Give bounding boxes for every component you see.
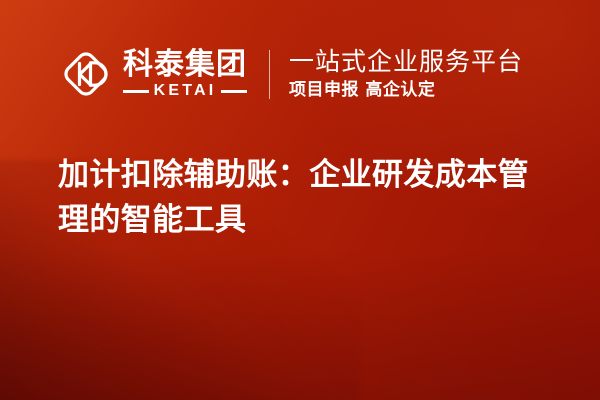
promo-banner: 科泰集团 KETAI 一站式企业服务平台 项目申报 高企认定 加计扣除辅助账：企…: [0, 0, 600, 400]
wordmark-rule-left: [123, 90, 149, 93]
header-divider: [269, 50, 270, 99]
tagline-primary: 一站式企业服务平台: [289, 47, 523, 77]
brand-name-cn: 科泰集团: [123, 49, 247, 81]
page-title: 加计扣除辅助账：企业研发成本管理的智能工具: [58, 152, 558, 242]
brand-logo[interactable]: 科泰集团 KETAI: [60, 48, 247, 100]
background-bottom-fade: [0, 250, 600, 400]
brand-tagline: 一站式企业服务平台 项目申报 高企认定: [289, 47, 523, 101]
brand-name-en: KETAI: [154, 83, 217, 99]
wordmark-rule-right: [221, 90, 247, 93]
brand-wordmark: 科泰集团 KETAI: [123, 49, 247, 99]
brand-name-en-row: KETAI: [123, 83, 247, 99]
tagline-secondary: 项目申报 高企认定: [289, 79, 523, 101]
ketai-diamond-kd-monogram-icon: [60, 48, 112, 100]
banner-header: 科泰集团 KETAI 一站式企业服务平台 项目申报 高企认定: [0, 38, 600, 110]
